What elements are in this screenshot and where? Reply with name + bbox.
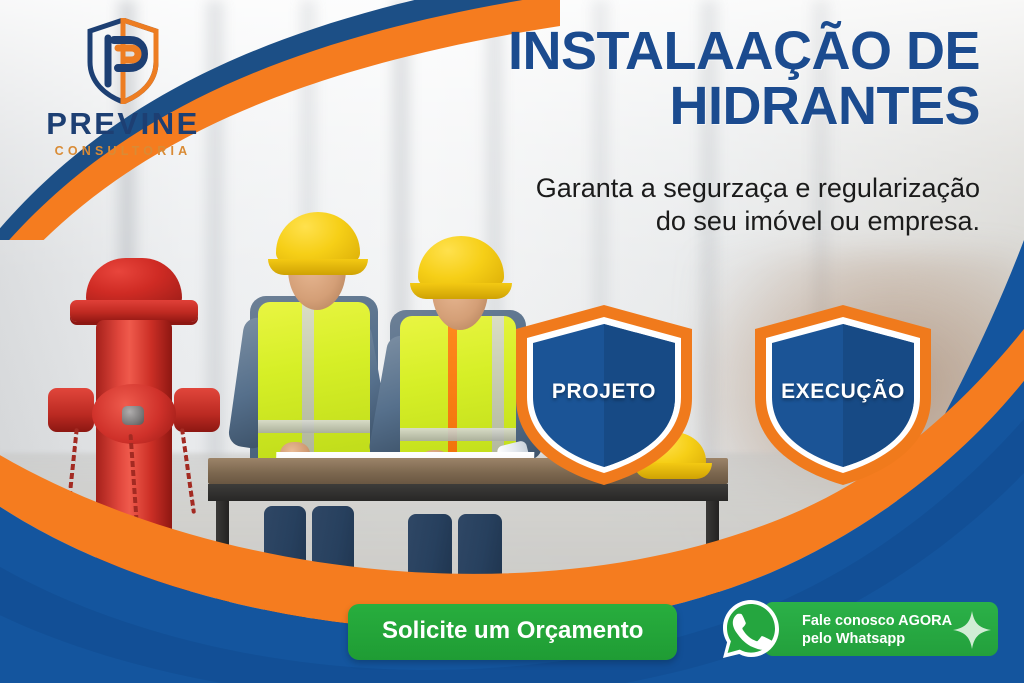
- brand-logo[interactable]: PREVINE CONSULTORIA: [28, 18, 218, 158]
- request-quote-button[interactable]: Solicite um Orçamento: [348, 604, 677, 660]
- headline-line-2: HIDRANTES: [380, 79, 980, 134]
- whatsapp-contact-button[interactable]: Fale conosco AGORA pelo Whatsapp: [718, 596, 998, 662]
- desk-leg: [216, 501, 229, 606]
- headline: INSTALAAÇÃO DE HIDRANTES: [380, 24, 980, 134]
- brand-name: PREVINE: [28, 108, 218, 139]
- whatsapp-icon: [718, 596, 784, 662]
- badge-projeto-label: PROJETO: [509, 380, 699, 404]
- marketing-banner: PREVINE CONSULTORIA INSTALAAÇÃO DE HIDRA…: [0, 0, 1024, 683]
- badge-execucao-label: EXECUÇÃO: [748, 380, 938, 404]
- subheadline: Garanta a segurzaça e regularização do s…: [510, 172, 980, 239]
- badge-execucao[interactable]: EXECUÇÃO: [748, 302, 938, 488]
- badge-projeto[interactable]: PROJETO: [509, 302, 699, 488]
- desk-leg: [706, 501, 719, 606]
- whatsapp-line-1: Fale conosco AGORA: [802, 612, 962, 630]
- shield-p-monogram-icon: [84, 18, 162, 104]
- brand-tagline: CONSULTORIA: [28, 144, 218, 158]
- headline-line-1: INSTALAAÇÃO DE: [508, 21, 980, 81]
- whatsapp-line-2: pelo Whatsapp: [802, 630, 962, 648]
- whatsapp-text: Fale conosco AGORA pelo Whatsapp: [802, 612, 962, 649]
